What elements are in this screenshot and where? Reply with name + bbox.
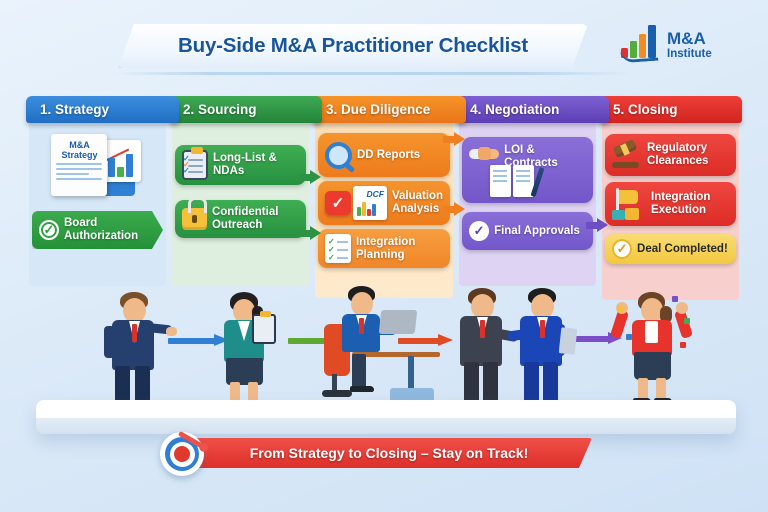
person-negotiator-blue [510,288,580,410]
title-underline [110,72,630,75]
stage-title: 3. Due Diligence [326,102,430,117]
stage-title: 5. Closing [613,102,678,117]
item-label: Valuation Analysis [392,190,443,216]
item-regulatory-clearances[interactable]: Regulatory Clearances [605,134,736,176]
item-final-approvals[interactable]: ✓ Final Approvals [462,212,593,250]
infographic-root: Buy-Side M&A Practitioner Checklist M&A … [0,0,768,512]
footer-banner: From Strategy to Closing – Stay on Track… [186,438,592,468]
strategy-document-icon: M&A Strategy [49,134,145,200]
stage-column-closing[interactable]: 5. Closing Regulatory Clearances Integra… [599,96,742,286]
clipboard-prop-icon [252,314,276,344]
item-deal-completed[interactable]: ✓ Deal Completed! [605,234,736,264]
stage-title: 2. Sourcing [183,102,257,117]
stage-title: 4. Negotiation [470,102,559,117]
item-label: Board Authorization [64,217,156,243]
folder-icon [559,327,578,355]
item-integration-execution[interactable]: Integration Execution [605,182,736,226]
item-confidential-outreach[interactable]: Confidential Outreach [175,200,306,238]
bar-chart-icon [620,26,660,64]
checklist-icon: ✓✓✓ [325,234,351,263]
gavel-icon [612,141,642,169]
handshake-icon [469,144,499,164]
connector-arrow-sourcing-to-dd [299,170,321,184]
gold-check-icon: ✓ [612,239,632,259]
item-label: Confidential Outreach [212,206,299,232]
stage-header-due-diligence[interactable]: 3. Due Diligence [312,96,466,123]
title-banner: Buy-Side M&A Practitioner Checklist [118,24,588,68]
item-label: Final Approvals [494,225,580,238]
red-check-icon: ✓ [325,191,351,215]
person-celebrating-woman [612,288,692,410]
green-check-icon: ✓ [39,220,59,240]
contract-documents-icon [490,165,536,199]
item-loi-contracts[interactable]: LOI & Contracts [462,137,593,203]
brand-logo: M&A Institute [620,20,760,70]
target-dartboard-icon [160,432,204,476]
item-label: Integration Planning [356,236,443,262]
clipboard-icon: ✓✓✓ [182,150,208,180]
stage-column-strategy[interactable]: 1. Strategy M&A Strategy ✓ Board Authori… [26,96,169,286]
stage-platform [36,400,736,434]
item-label: Regulatory Clearances [647,142,729,168]
stage-column-negotiation[interactable]: 4. Negotiation LOI & Contracts ✓ Final A… [456,96,599,286]
footer-banner-text: From Strategy to Closing – Stay on Track… [250,445,529,461]
item-long-list-ndas[interactable]: ✓✓✓ Long-List & NDAs [175,145,306,185]
stage-title: 1. Strategy [40,102,109,117]
flag-boxes-icon [612,188,646,220]
connector-arrow-dd-to-negotiation-2 [443,202,465,216]
white-check-icon: ✓ [469,221,489,241]
strategy-doc-label: M&A Strategy [56,140,102,160]
item-label: Long-List & NDAs [213,152,299,178]
item-label: DD Reports [357,149,420,162]
person-executive-pointing [100,292,172,410]
connector-arrow-sourcing-to-dd-2 [299,226,321,240]
person-negotiator-grey [452,288,518,410]
stage-header-negotiation[interactable]: 4. Negotiation [456,96,609,123]
magnifier-icon [325,142,352,169]
item-label: Integration Execution [651,191,729,217]
item-integration-planning[interactable]: ✓✓✓ Integration Planning [318,229,450,268]
stage-header-closing[interactable]: 5. Closing [599,96,742,123]
page-title: Buy-Side M&A Practitioner Checklist [178,34,528,58]
stage-columns: 1. Strategy M&A Strategy ✓ Board Authori… [26,96,742,286]
dcf-chart-icon: DCF [353,186,387,220]
stage-column-due-diligence[interactable]: 3. Due Diligence DD Reports ✓ DCF Valuat… [312,96,456,286]
connector-arrow-negotiation-to-closing [586,218,608,232]
person-analyst-at-desk [322,282,440,410]
stage-header-sourcing[interactable]: 2. Sourcing [169,96,322,123]
laptop-icon [379,310,418,334]
stage-column-sourcing[interactable]: 2. Sourcing ✓✓✓ Long-List & NDAs Confide… [169,96,312,286]
item-dd-reports[interactable]: DD Reports [318,133,450,177]
connector-arrow-dd-to-negotiation [443,132,465,146]
logo-name: M&A [667,30,712,48]
logo-subtitle: Institute [667,48,712,60]
item-label: Deal Completed! [637,243,728,256]
item-board-authorization[interactable]: ✓ Board Authorization [32,211,163,249]
item-valuation-analysis[interactable]: ✓ DCF Valuation Analysis [318,181,450,225]
stage-header-strategy[interactable]: 1. Strategy [26,96,179,123]
person-analyst-clipboard [214,292,280,410]
padlock-icon [182,208,207,230]
